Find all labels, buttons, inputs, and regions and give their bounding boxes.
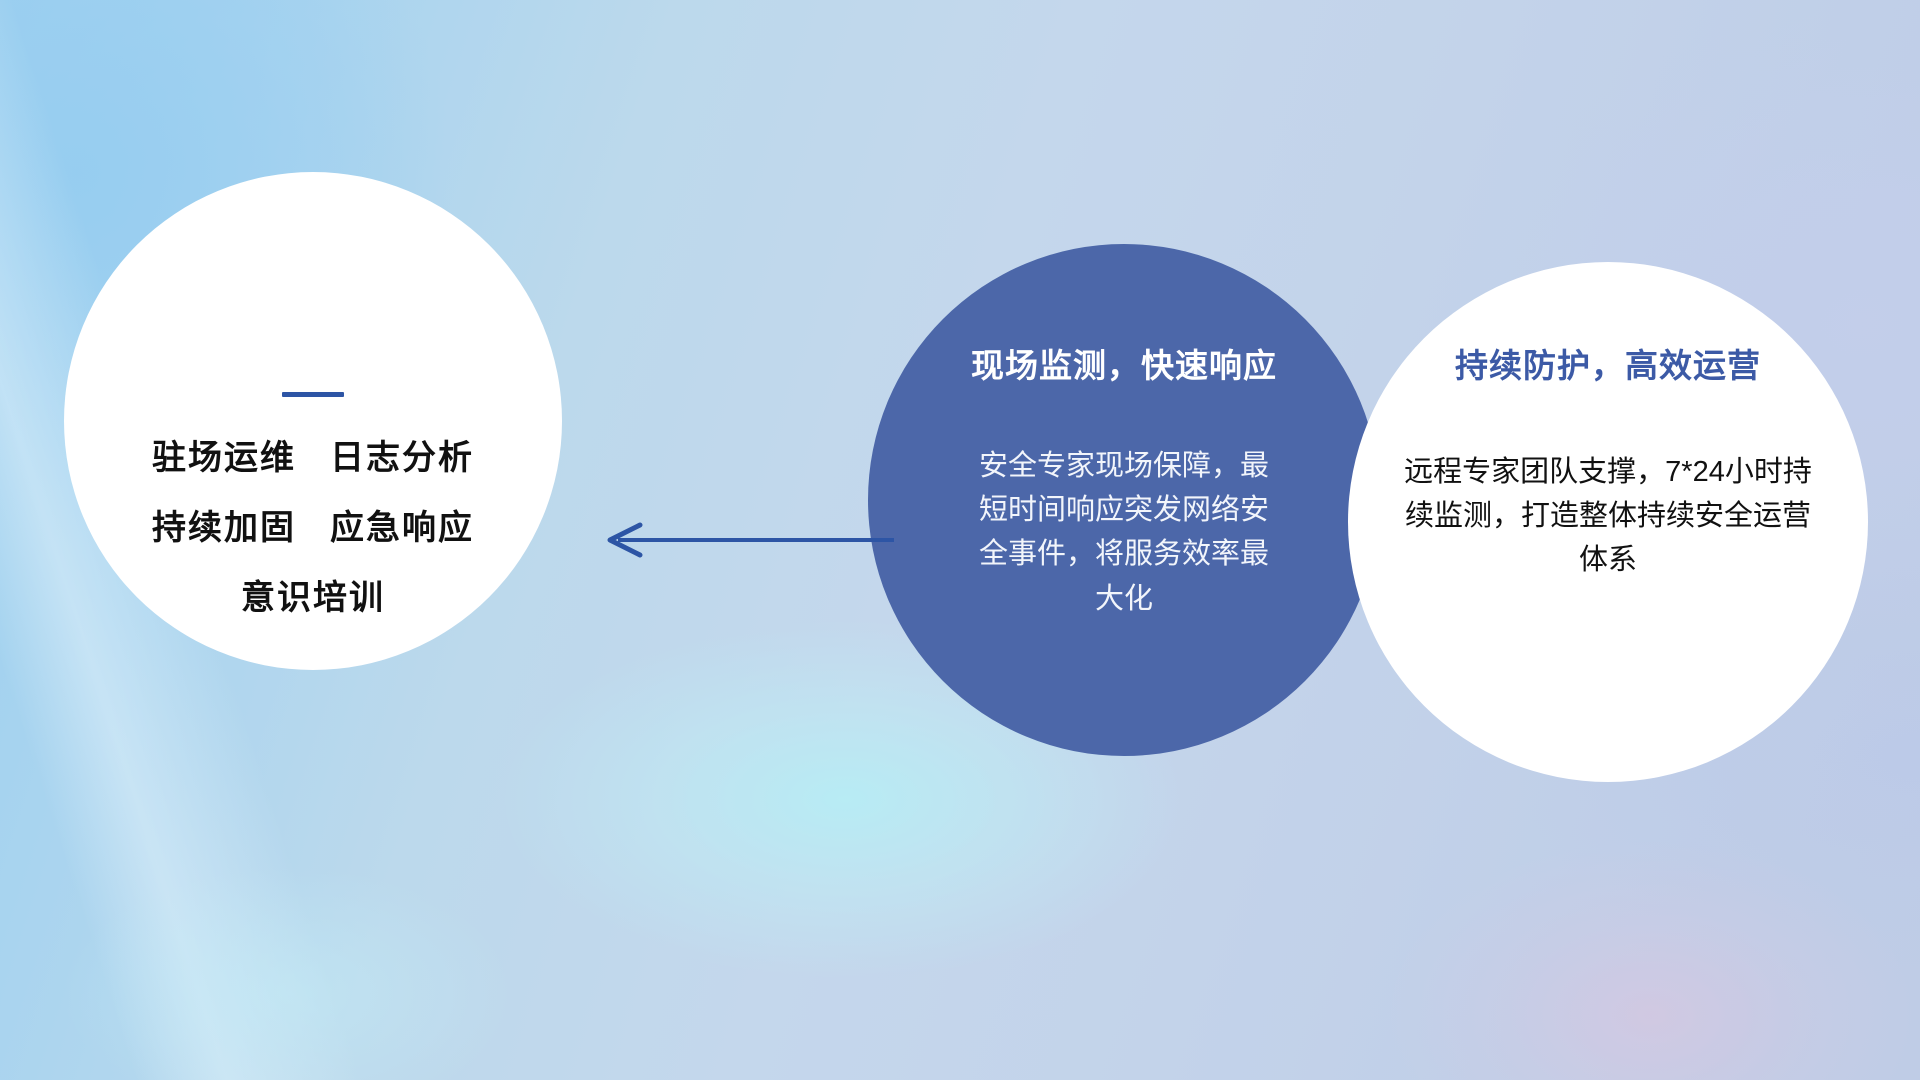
arrow-icon	[596, 512, 896, 568]
left-circle-divider	[282, 392, 344, 397]
service-tag-zhuchangyunwei[interactable]: 驻场运维	[152, 439, 296, 477]
flow-arrow-left	[596, 512, 896, 568]
service-tag-yingjixiangying[interactable]: 应急响应	[330, 509, 474, 547]
service-tag-rizhifenxi[interactable]: 日志分析	[330, 439, 474, 477]
middle-circle-body: 安全专家现场保障，最短时间响应突发网络安全事件，将服务效率最大化	[969, 444, 1279, 620]
middle-circle-content: 现场监测，快速响应 安全专家现场保障，最短时间响应突发网络安全事件，将服务效率最…	[868, 244, 1380, 756]
service-tag-yishipeixun[interactable]: 意识培训	[241, 579, 385, 617]
middle-circle-title: 现场监测，快速响应	[971, 348, 1277, 384]
left-circle-line-3: 意识培训	[241, 581, 385, 615]
left-circle-content: 驻场运维日志分析 持续加固应急响应 意识培训	[64, 172, 562, 670]
right-circle-body: 远程专家团队支撑，7*24小时持续监测，打造整体持续安全运营体系	[1398, 450, 1818, 582]
left-circle-line-2: 持续加固应急响应	[152, 511, 474, 545]
service-tag-chixujiagu[interactable]: 持续加固	[152, 509, 296, 547]
right-circle-content: 持续防护，高效运营 远程专家团队支撑，7*24小时持续监测，打造整体持续安全运营…	[1348, 262, 1868, 782]
right-circle-title: 持续防护，高效运营	[1455, 348, 1761, 384]
left-circle-line-1: 驻场运维日志分析	[152, 441, 474, 475]
slide-canvas: 驻场运维日志分析 持续加固应急响应 意识培训 现场监测，快速响应 安全专家现场保…	[0, 0, 1920, 1080]
